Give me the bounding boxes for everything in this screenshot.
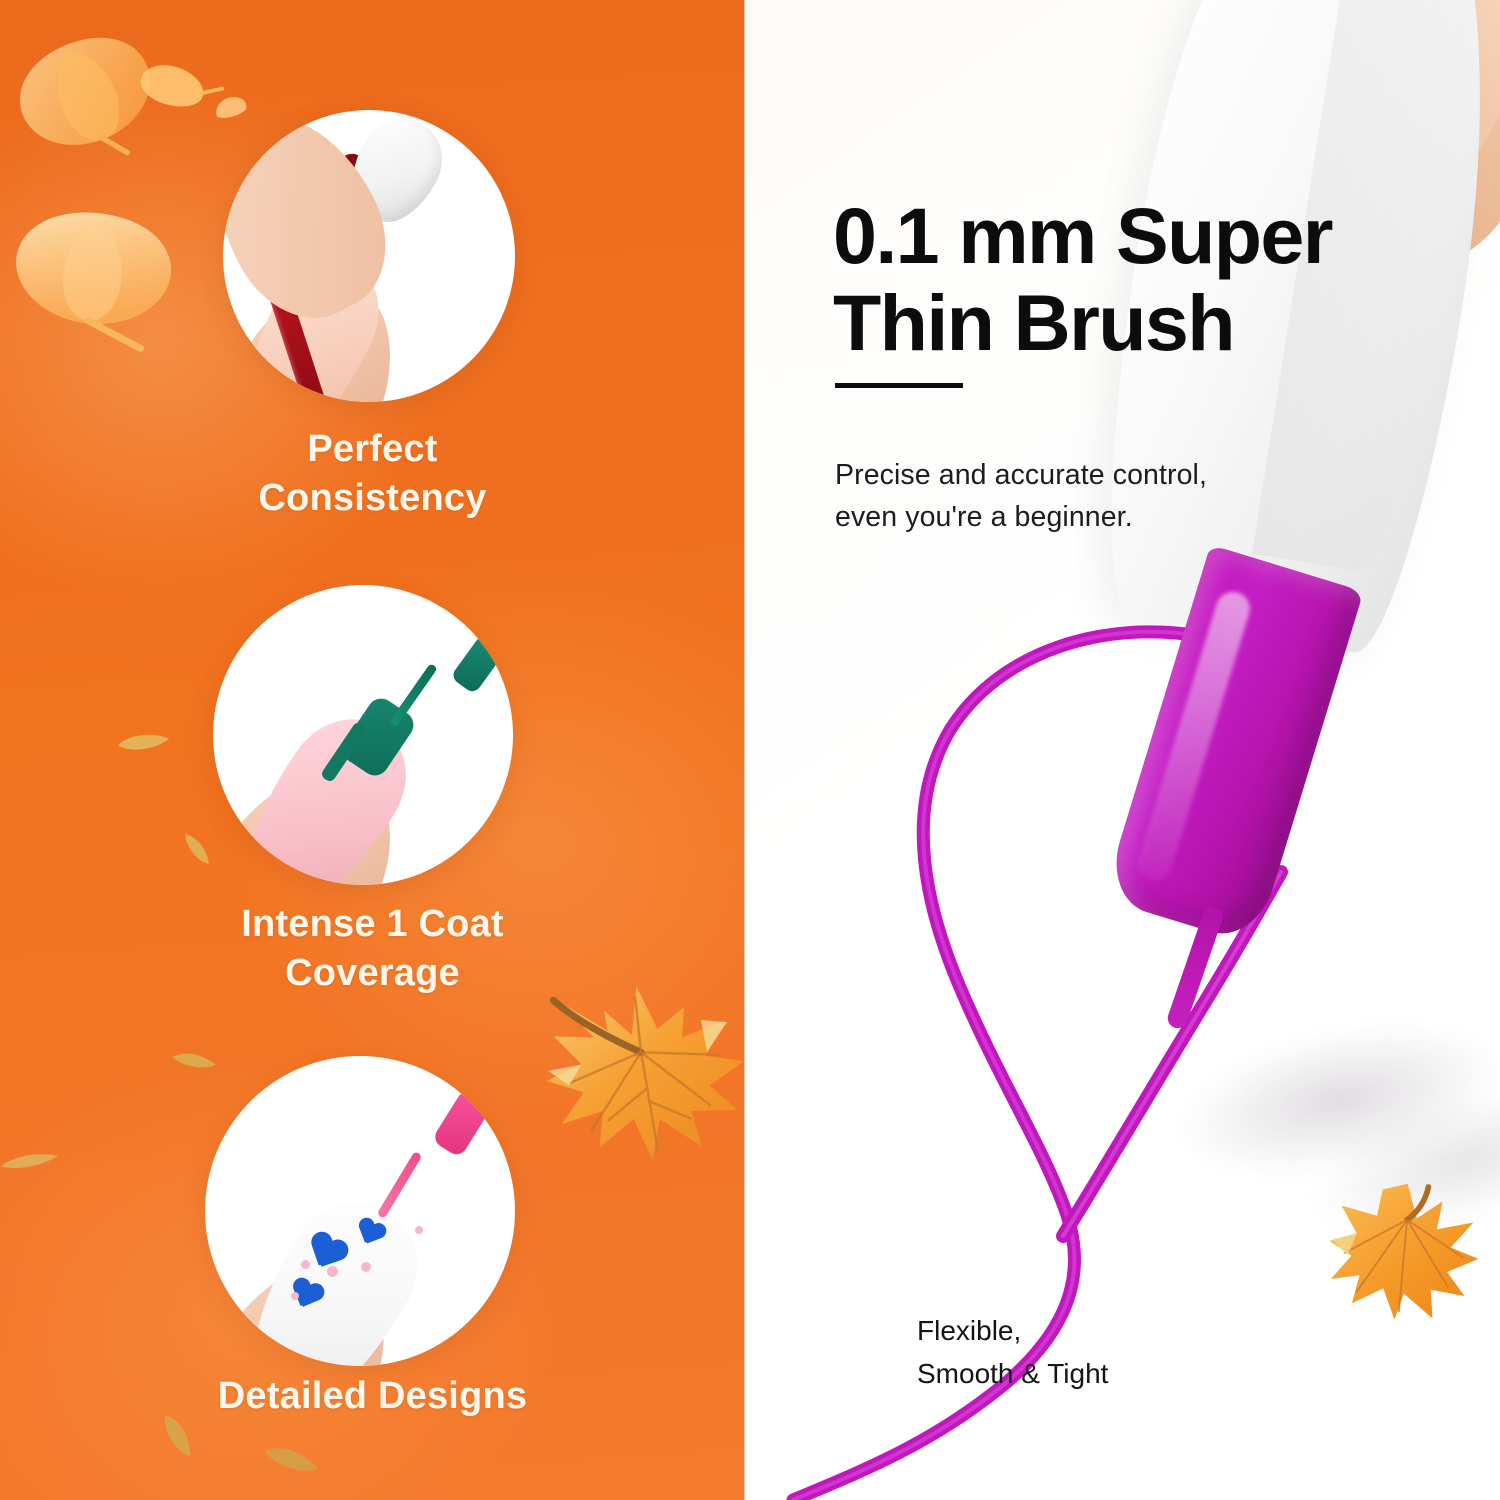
product-feature-banner: Perfect Consistency Intense 1 Coat Cover… xyxy=(0,0,1500,1500)
page-title: 0.1 mm Super Thin Brush xyxy=(833,193,1473,367)
ginkgo-petal-icon xyxy=(121,37,232,130)
dot-decoration xyxy=(327,1266,338,1277)
right-hero-panel: 0.1 mm Super Thin Brush Precise and accu… xyxy=(745,0,1500,1500)
gold-confetti-flake-icon xyxy=(113,715,175,770)
brush-handle-shape xyxy=(450,633,506,694)
dot-decoration xyxy=(291,1292,299,1300)
left-feature-panel: Perfect Consistency Intense 1 Coat Cover… xyxy=(0,0,745,1500)
dot-decoration xyxy=(361,1262,371,1272)
gold-confetti-flake-icon xyxy=(262,1436,321,1481)
feature-caption-perfect-consistency: Perfect Consistency xyxy=(0,425,745,522)
headline-line-2: Thin Brush xyxy=(833,278,1234,367)
caption-line: Coverage xyxy=(0,949,745,998)
gold-confetti-flake-icon xyxy=(174,829,219,868)
subhead-line-2: even you're a beginner. xyxy=(835,501,1133,533)
feature-caption-intense-coverage: Intense 1 Coat Coverage xyxy=(0,900,745,997)
ginkgo-leaf-icon xyxy=(0,0,188,193)
ginkgo-leaf-icon xyxy=(0,187,192,365)
footnote-line-1: Flexible, xyxy=(917,1315,1021,1346)
footnote-text: Flexible, Smooth & Tight xyxy=(917,1310,1317,1395)
gold-confetti-flake-icon xyxy=(0,1142,62,1176)
polish-stroke xyxy=(389,663,438,727)
dot-decoration xyxy=(415,1226,423,1234)
feature-caption-detailed-designs: Detailed Designs xyxy=(0,1372,745,1421)
feature-image-intense-coverage xyxy=(213,585,513,885)
feature-image-perfect-consistency xyxy=(223,110,515,402)
caption-line: Perfect xyxy=(0,425,745,474)
headline-line-1: 0.1 mm Super xyxy=(833,191,1332,280)
title-underline-rule xyxy=(835,383,963,388)
dot-decoration xyxy=(301,1260,310,1269)
gold-confetti-flake-icon xyxy=(169,1041,218,1079)
footnote-line-2: Smooth & Tight xyxy=(917,1358,1108,1389)
polish-stroke xyxy=(377,1151,423,1219)
feature-image-detailed-designs xyxy=(205,1056,515,1366)
caption-line: Consistency xyxy=(0,474,745,523)
ginkgo-petal-icon xyxy=(207,86,253,123)
subhead-line-1: Precise and accurate control, xyxy=(835,459,1207,491)
subheading-text: Precise and accurate control, even you'r… xyxy=(835,454,1395,540)
brush-handle-shape xyxy=(431,1088,493,1159)
caption-line: Intense 1 Coat xyxy=(0,900,745,949)
caption-line: Detailed Designs xyxy=(0,1372,745,1421)
